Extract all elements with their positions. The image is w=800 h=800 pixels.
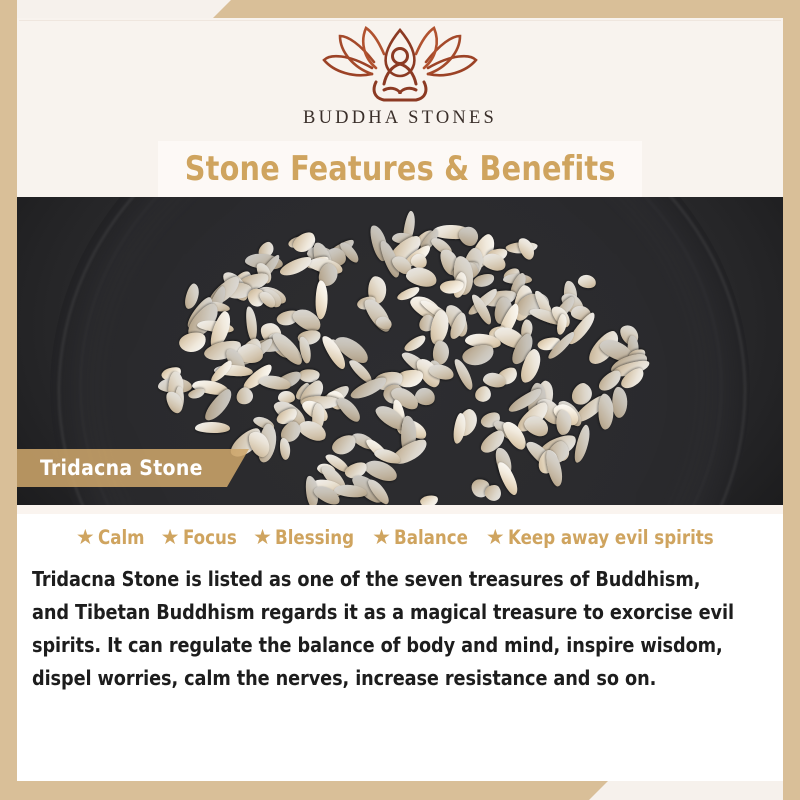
stone-bead [555,409,571,435]
lotus-meditation-figure-icon [314,24,486,106]
benefit-label: Keep away evil spirits [508,526,714,549]
star-icon: ★ [372,527,391,548]
benefit-item: ★ Calm [76,526,147,549]
stone-bead [577,274,597,290]
stone-bead [611,386,627,418]
benefit-label: Blessing [275,526,354,549]
description-paragraph: Tridacna Stone is listed as one of the s… [32,563,740,695]
page-title: Stone Features & Benefits [185,149,616,189]
star-icon: ★ [486,527,505,548]
stone-bead [460,341,496,368]
benefits-row: ★ Calm ★ Focus ★ Blessing ★ Balance ★ Ke… [17,526,783,549]
brand-wordmark: BUDDHA STONES [303,108,497,129]
top-hairline-divider [19,20,781,21]
stone-bead [195,422,231,433]
stone-name-text: Tridacna Stone [40,456,203,480]
top-corner-band [213,0,800,18]
star-icon: ★ [161,527,180,548]
title-banner: Stone Features & Benefits [158,141,642,197]
content-top-tint [17,505,783,514]
poster-canvas: BUDDHA STONES Stone Features & Benefits … [0,0,800,800]
bottom-corner-band [0,781,608,800]
star-icon: ★ [253,527,272,548]
stone-bead [234,385,256,407]
benefit-item: ★ Keep away evil spirits [486,526,724,549]
star-icon: ★ [76,527,95,548]
brand-logo-block: BUDDHA STONES [0,22,800,140]
benefit-item: ★ Blessing [253,526,358,549]
content-panel: ★ Calm ★ Focus ★ Blessing ★ Balance ★ Ke… [17,505,783,781]
stone-bead [405,264,440,289]
stone-bead [315,280,328,319]
benefit-item: ★ Balance [372,526,472,549]
benefit-item: ★ Focus [161,526,239,549]
stone-name-label: Tridacna Stone [17,449,249,487]
stone-bead [420,494,440,505]
benefit-label: Balance [394,526,468,549]
benefit-label: Focus [183,526,237,549]
stone-bead [245,305,259,341]
benefit-label: Calm [98,526,145,549]
